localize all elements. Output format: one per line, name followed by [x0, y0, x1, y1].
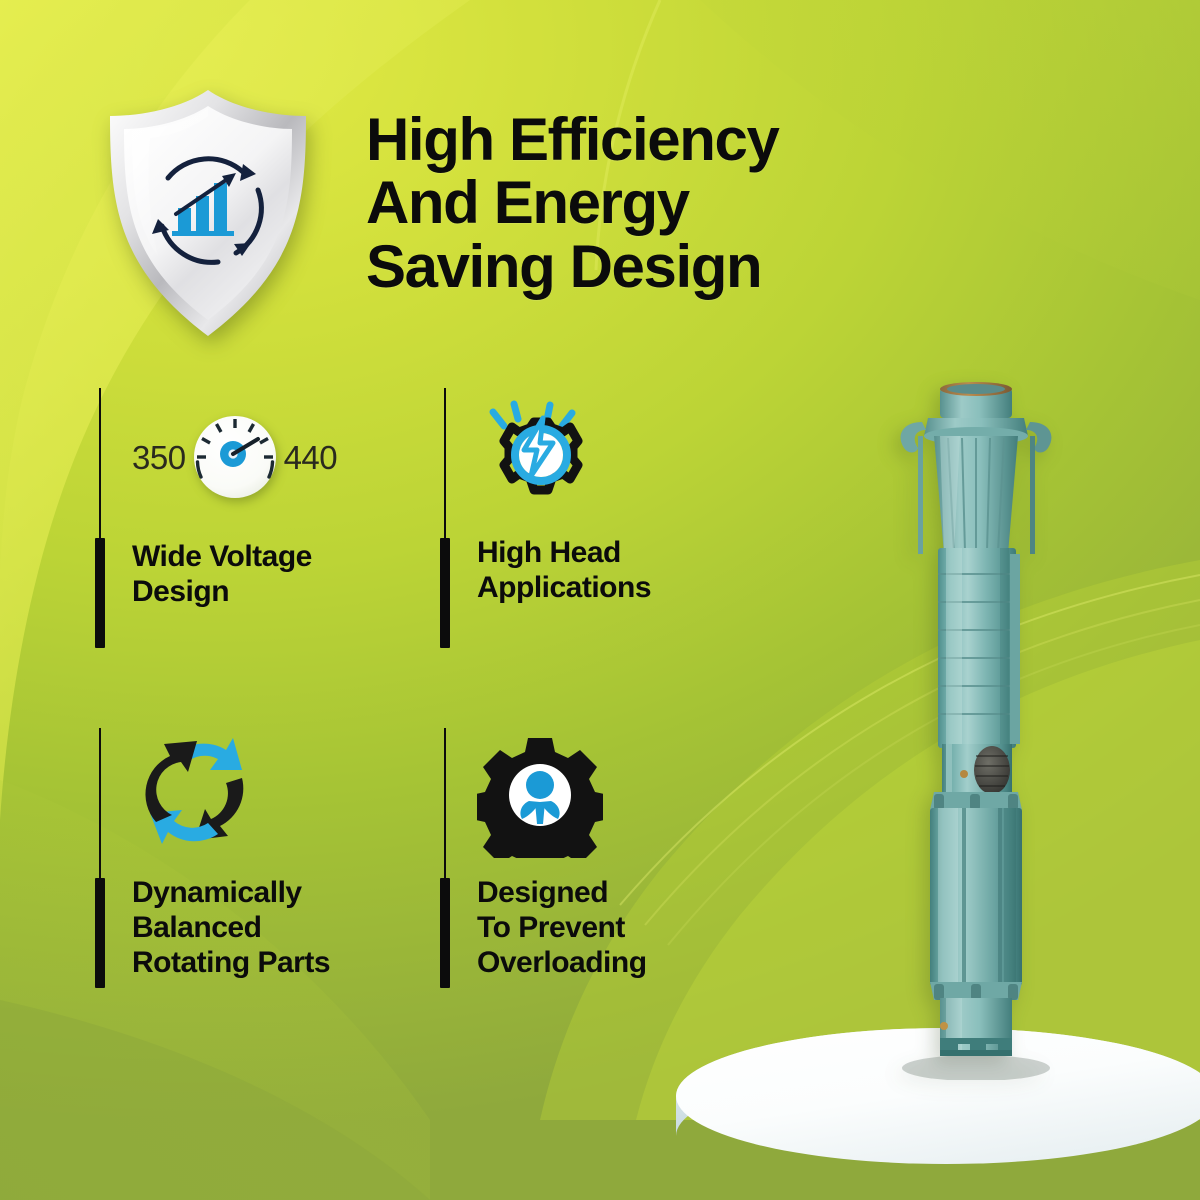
feature-grid: 350 [92, 388, 752, 980]
feature-row-top: 350 [92, 388, 752, 688]
title-line-2: And Energy [366, 171, 926, 234]
voltage-gauge-icon: 350 [132, 392, 437, 522]
feature-separator-bar [437, 388, 477, 688]
rotation-cycle-arrows-icon [132, 732, 437, 858]
infographic-poster: High Efficiency And Energy Saving Design… [0, 0, 1200, 1200]
feature-row-bottom: Dynamically Balanced Rotating Parts [92, 728, 752, 980]
feature-title-wide-voltage: Wide Voltage Design [132, 540, 437, 610]
efficiency-shield-badge [96, 86, 320, 342]
feature-separator-bar [92, 388, 132, 688]
gear-impeller-icon [477, 732, 752, 858]
title-line-3: Saving Design [366, 235, 926, 298]
voltage-min-label: 350 [132, 441, 186, 474]
feature-separator-bar [92, 728, 132, 980]
feature-title-high-head: High Head Applications [477, 536, 752, 606]
feature-high-head: High Head Applications [437, 388, 752, 688]
page-title: High Efficiency And Energy Saving Design [366, 108, 926, 298]
feature-separator-bar [437, 728, 477, 980]
feature-title-dynamic-balance: Dynamically Balanced Rotating Parts [132, 876, 437, 980]
feature-overload-protection: Designed To Prevent Overloading [437, 728, 752, 980]
feature-title-overload-protection: Designed To Prevent Overloading [477, 876, 752, 980]
gear-lightning-bolt-icon [477, 392, 752, 518]
feature-dynamic-balance: Dynamically Balanced Rotating Parts [92, 728, 437, 980]
vertical-submersible-pump [876, 378, 1076, 1080]
voltage-max-label: 440 [284, 441, 338, 474]
title-line-1: High Efficiency [366, 108, 926, 171]
feature-wide-voltage: 350 [92, 388, 437, 688]
